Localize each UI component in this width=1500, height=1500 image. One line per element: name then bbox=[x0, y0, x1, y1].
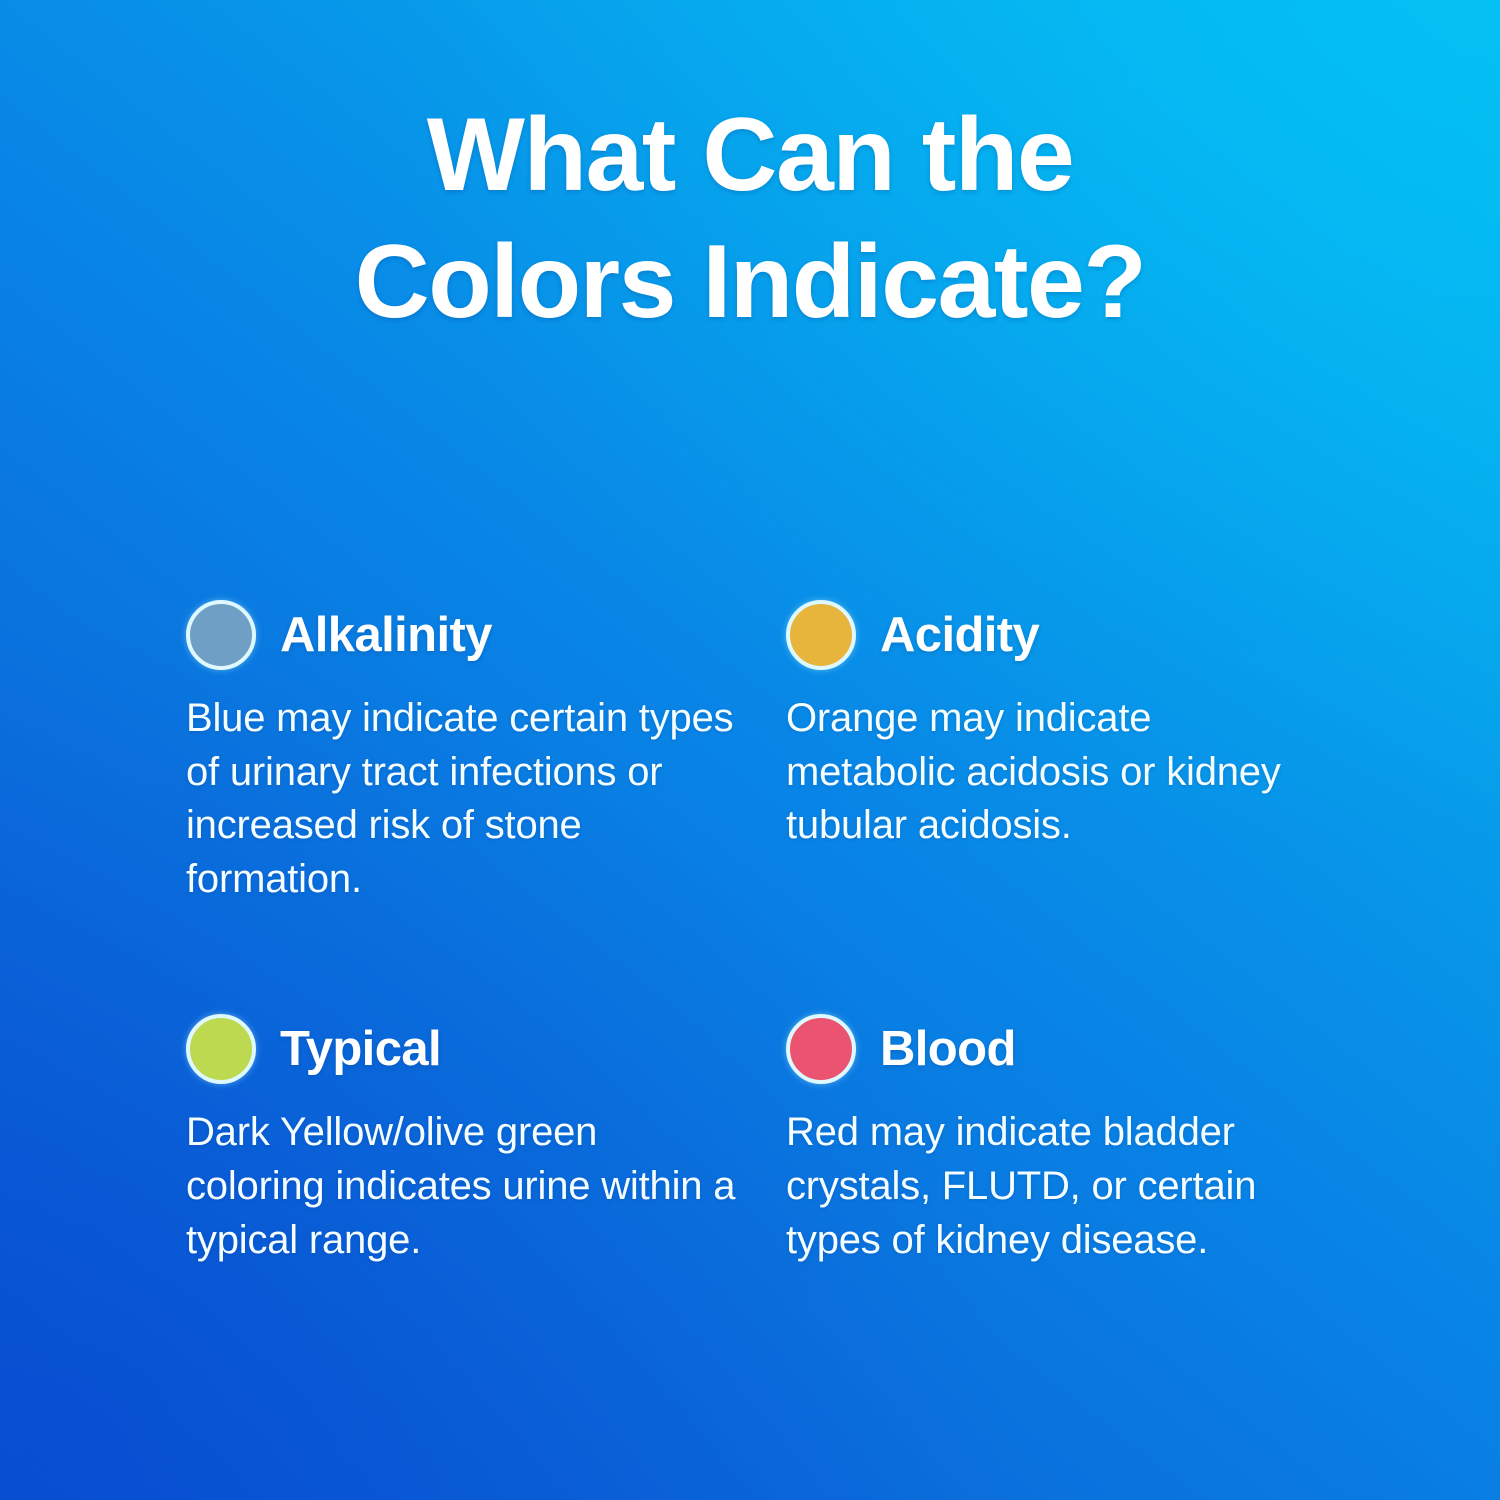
infographic-poster: What Can the Colors Indicate? Alkalinity… bbox=[0, 0, 1500, 1500]
legend-item-label: Blood bbox=[880, 1025, 1016, 1074]
color-swatch-circle-icon bbox=[786, 600, 856, 670]
legend-item-typical: Typical Dark Yellow/olive green coloring… bbox=[186, 1014, 786, 1267]
color-legend-grid: Alkalinity Blue may indicate certain typ… bbox=[186, 600, 1366, 1267]
legend-item-description: Blue may indicate certain types of urina… bbox=[186, 692, 746, 906]
legend-item-alkalinity: Alkalinity Blue may indicate certain typ… bbox=[186, 600, 786, 906]
color-swatch-circle-icon bbox=[186, 1014, 256, 1084]
page-title-line-1: What Can the bbox=[90, 92, 1410, 219]
legend-item-header: Typical bbox=[186, 1014, 786, 1084]
legend-item-label: Typical bbox=[280, 1025, 441, 1074]
color-swatch-circle-icon bbox=[186, 600, 256, 670]
color-swatch-circle-icon bbox=[786, 1014, 856, 1084]
legend-item-header: Acidity bbox=[786, 600, 1346, 670]
legend-item-description: Dark Yellow/olive green coloring indicat… bbox=[186, 1106, 746, 1267]
legend-item-header: Alkalinity bbox=[186, 600, 786, 670]
legend-item-blood: Blood Red may indicate bladder crystals,… bbox=[786, 1014, 1346, 1267]
legend-item-acidity: Acidity Orange may indicate metabolic ac… bbox=[786, 600, 1346, 906]
page-title-line-2: Colors Indicate? bbox=[90, 219, 1410, 346]
legend-item-header: Blood bbox=[786, 1014, 1346, 1084]
legend-item-label: Acidity bbox=[880, 611, 1039, 660]
legend-item-description: Orange may indicate metabolic acidosis o… bbox=[786, 692, 1331, 853]
legend-item-label: Alkalinity bbox=[280, 611, 492, 660]
page-title: What Can the Colors Indicate? bbox=[0, 92, 1500, 346]
legend-item-description: Red may indicate bladder crystals, FLUTD… bbox=[786, 1106, 1331, 1267]
